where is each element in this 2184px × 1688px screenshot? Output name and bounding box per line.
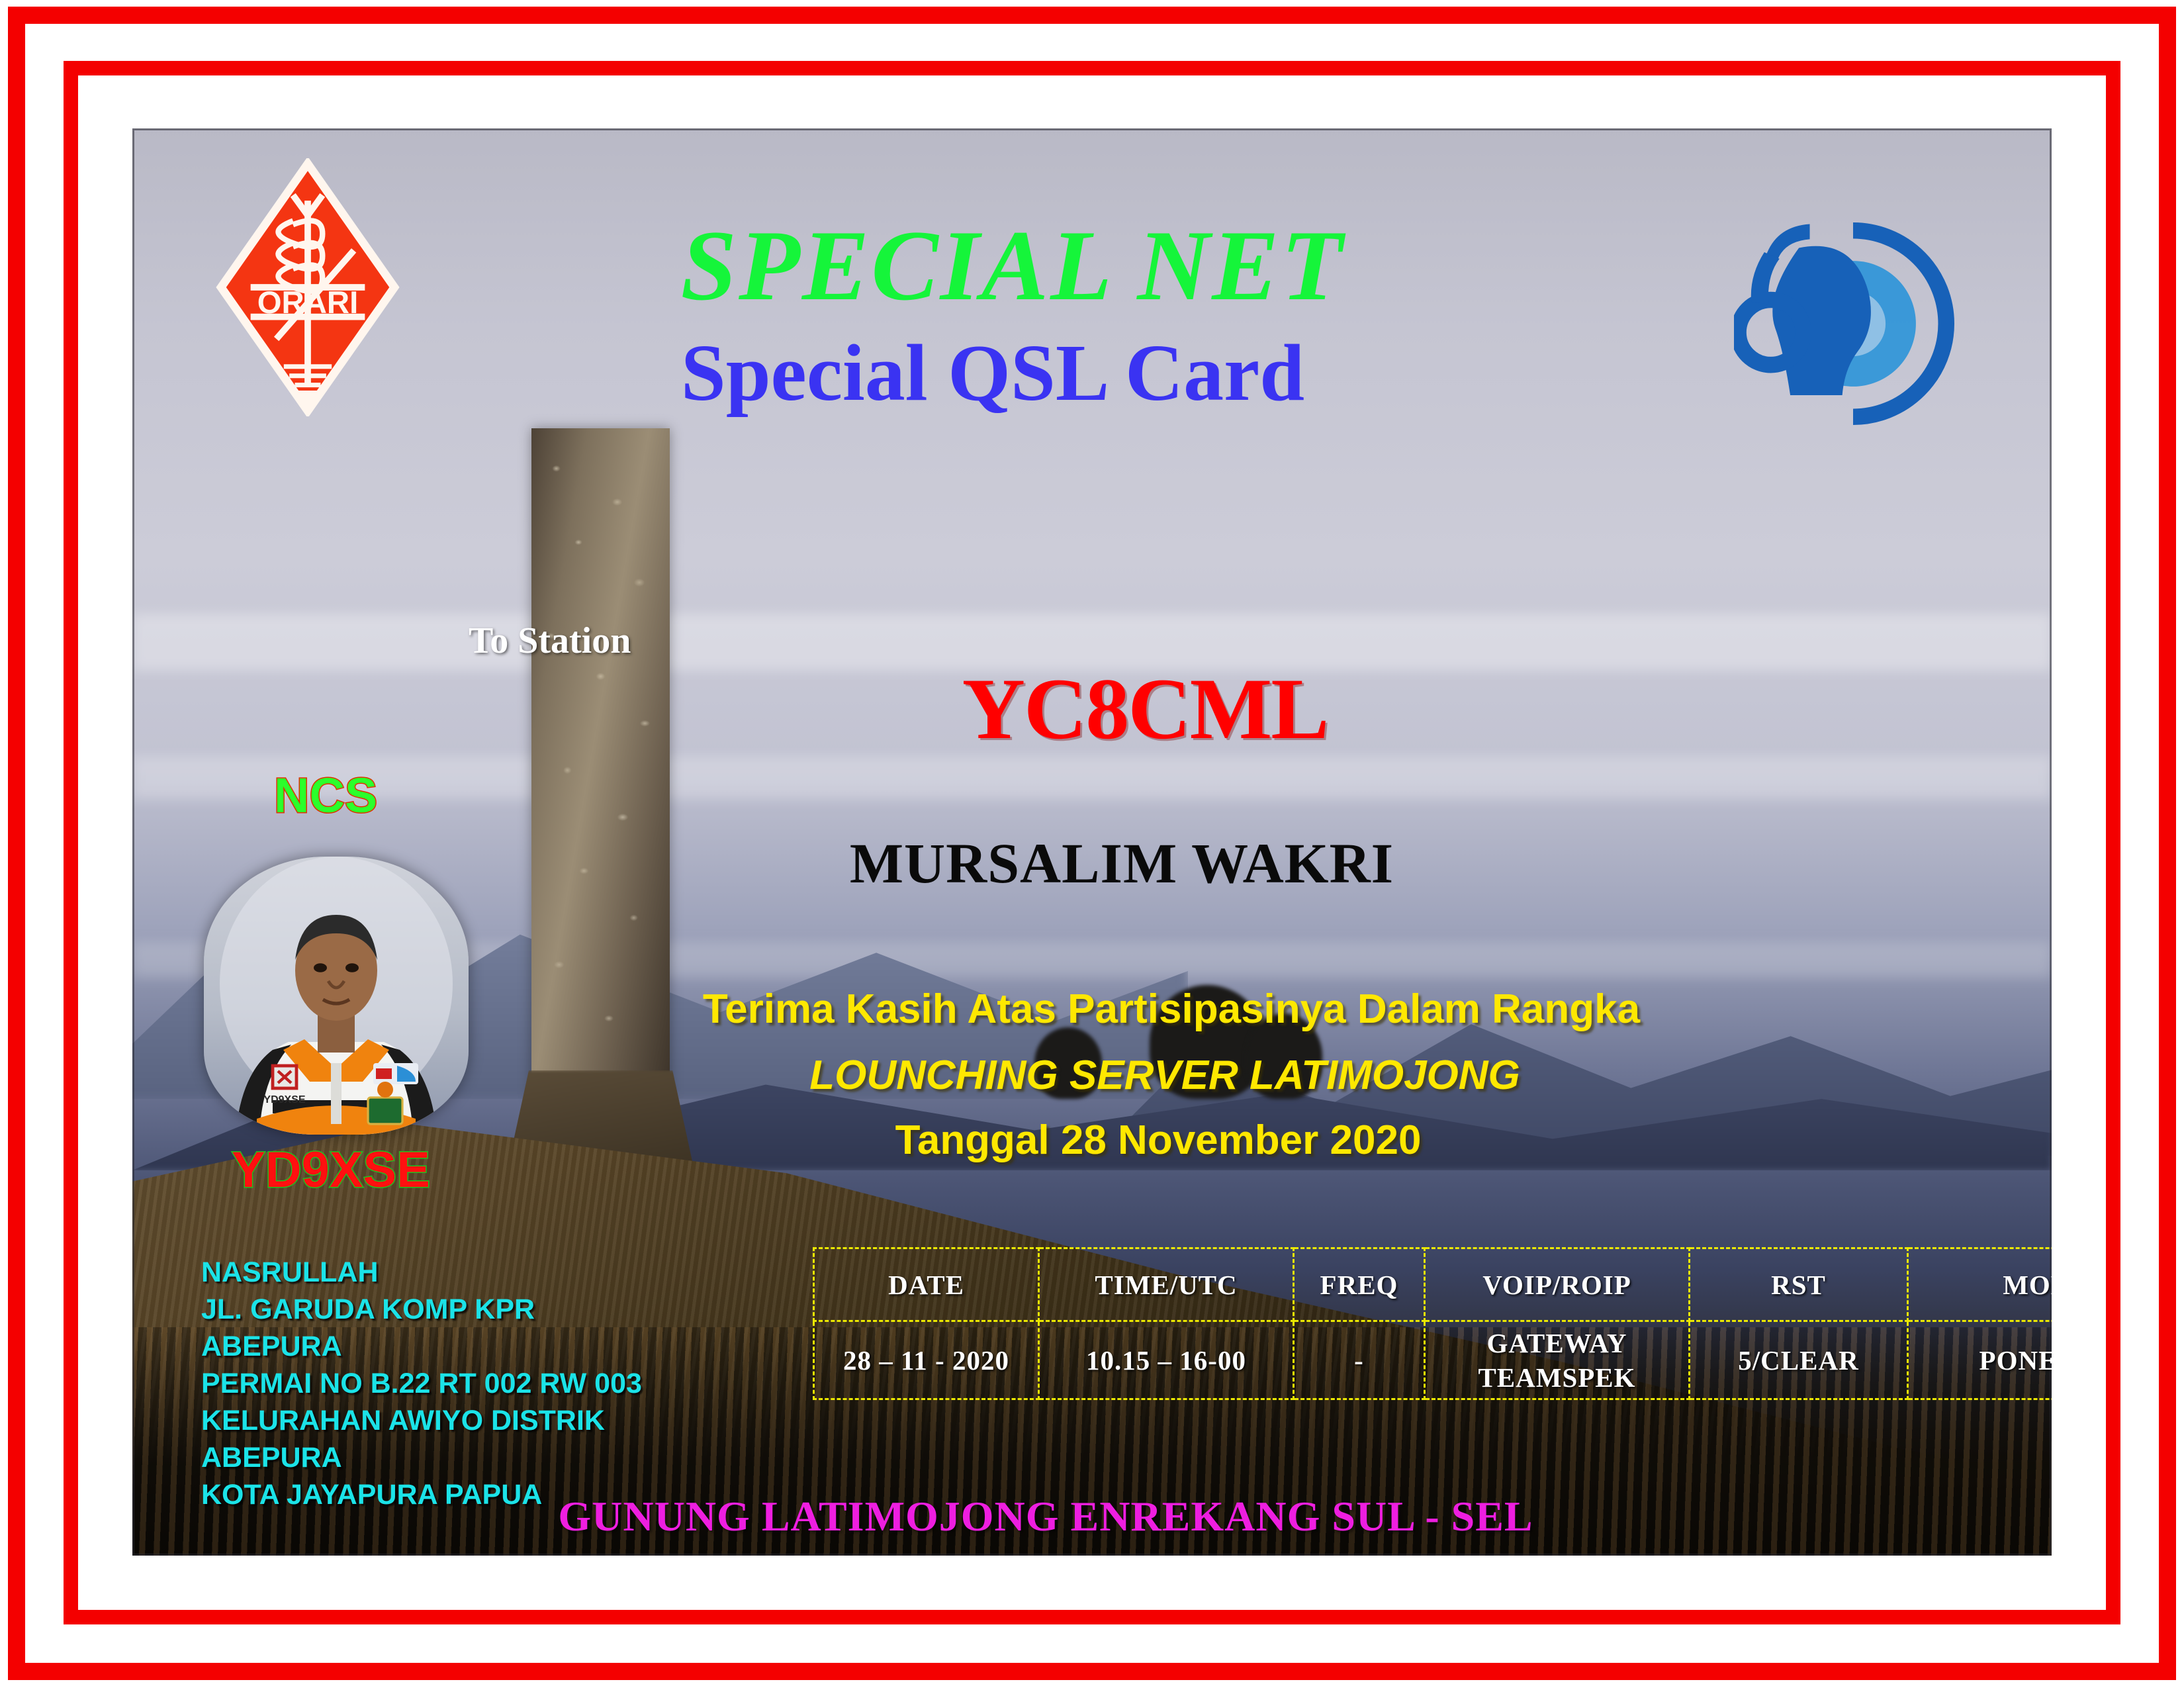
page-subtitle-qsl-card: Special QSL Card <box>132 327 1952 420</box>
column-header-voip-roip: VOIP/ROIP <box>1425 1248 1690 1321</box>
callsign: YC8CML <box>185 658 2052 759</box>
address-line: JL. GARUDA KOMP KPR <box>201 1291 744 1328</box>
address-line: KELURAHAN AWIYO DISTRIK <box>201 1402 744 1439</box>
cell-mode: PONE/CW <box>1908 1321 2052 1399</box>
column-header-freq: FREQ <box>1294 1248 1425 1321</box>
column-header-time-utc: TIME/UTC <box>1039 1248 1294 1321</box>
page-title-special-net: SPECIAL NET <box>132 208 1972 323</box>
cell-date: 28 – 11 - 2020 <box>814 1321 1039 1399</box>
event-launch-line: LOUNCHING SERVER LATIMOJONG <box>205 1052 2052 1099</box>
qsl-card: ORARI <box>0 0 2184 1688</box>
uniform-callsign-badge: YD9XSE <box>263 1094 305 1105</box>
ncs-callsign: YD9XSE <box>232 1141 430 1199</box>
column-header-rst: RST <box>1690 1248 1908 1321</box>
cell-time-utc: 10.15 – 16-00 <box>1039 1321 1294 1399</box>
cell-rst: 5/CLEAR <box>1690 1321 1908 1399</box>
ncs-label: NCS <box>274 767 377 823</box>
cell-voip-roip: GATEWAY TEAMSPEK <box>1425 1321 1690 1399</box>
cell-freq: - <box>1294 1321 1425 1399</box>
address-line: ABEPURA <box>201 1328 744 1365</box>
qso-details-table: DATE TIME/UTC FREQ VOIP/ROIP RST MODE 28… <box>813 1247 2052 1400</box>
location-line: GUNUNG LATIMOJONG ENREKANG SUL - SEL <box>132 1492 2005 1541</box>
operator-photo: YD9XSE <box>204 857 469 1135</box>
to-station-label: To Station <box>469 620 631 662</box>
inner-red-frame: ORARI <box>64 61 2120 1624</box>
column-header-mode: MODE <box>1908 1248 2052 1321</box>
station-address: NASRULLAH JL. GARUDA KOMP KPR ABEPURA PE… <box>201 1254 744 1513</box>
address-line: ABEPURA <box>201 1439 744 1476</box>
address-line: PERMAI NO B.22 RT 002 RW 003 <box>201 1365 744 1402</box>
event-thanks-line: Terima Kasih Atas Partisipasinya Dalam R… <box>212 986 2052 1033</box>
event-date-line: Tanggal 28 November 2020 <box>199 1117 2052 1164</box>
table-row: 28 – 11 - 2020 10.15 – 16-00 - GATEWAY T… <box>814 1321 2052 1399</box>
outer-red-frame: ORARI <box>8 7 2176 1680</box>
operator-name: MURSALIM WAKRI <box>162 830 2052 896</box>
background-photo: ORARI <box>132 128 2052 1556</box>
address-line: NASRULLAH <box>201 1254 744 1291</box>
column-header-date: DATE <box>814 1248 1039 1321</box>
table-header-row: DATE TIME/UTC FREQ VOIP/ROIP RST MODE <box>814 1248 2052 1321</box>
